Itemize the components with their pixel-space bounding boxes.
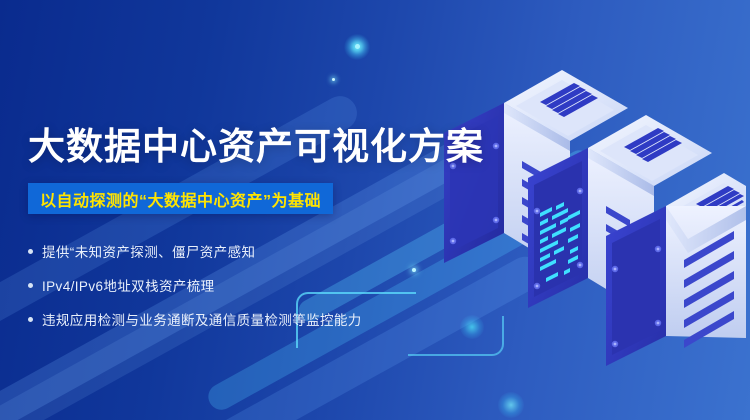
glow-dot: [344, 34, 370, 60]
list-item: 提供“未知资产探测、僵尸资产感知: [28, 238, 448, 264]
list-item-label: 违规应用检测与业务通断及通信质量检测等监控能力: [42, 309, 362, 329]
bullet-dot-icon: [28, 283, 33, 288]
list-item: 违规应用检测与业务通断及通信质量检测等监控能力: [28, 306, 448, 332]
subtitle-bar-label: 以自动探测的“大数据中心资产”为基础: [40, 187, 321, 211]
glow-dot: [355, 44, 360, 49]
server-racks-illustration: [428, 48, 750, 420]
list-item-label: IPv4/IPv6地址双栈资产梳理: [42, 275, 215, 295]
bullet-dot-icon: [28, 249, 33, 254]
page-title: 大数据中心资产可视化方案: [28, 126, 484, 167]
data-center-asset-banner: 大数据中心资产可视化方案 以自动探测的“大数据中心资产”为基础 提供“未知资产探…: [0, 0, 750, 420]
bullet-dot-icon: [28, 317, 33, 322]
glow-dot: [332, 78, 335, 81]
list-item-label: 提供“未知资产探测、僵尸资产感知: [42, 241, 255, 261]
list-item: IPv4/IPv6地址双栈资产梳理: [28, 272, 448, 298]
feature-bullet-list: 提供“未知资产探测、僵尸资产感知 IPv4/IPv6地址双栈资产梳理 违规应用检…: [28, 238, 448, 340]
subtitle-bar: 以自动探测的“大数据中心资产”为基础: [28, 183, 333, 214]
